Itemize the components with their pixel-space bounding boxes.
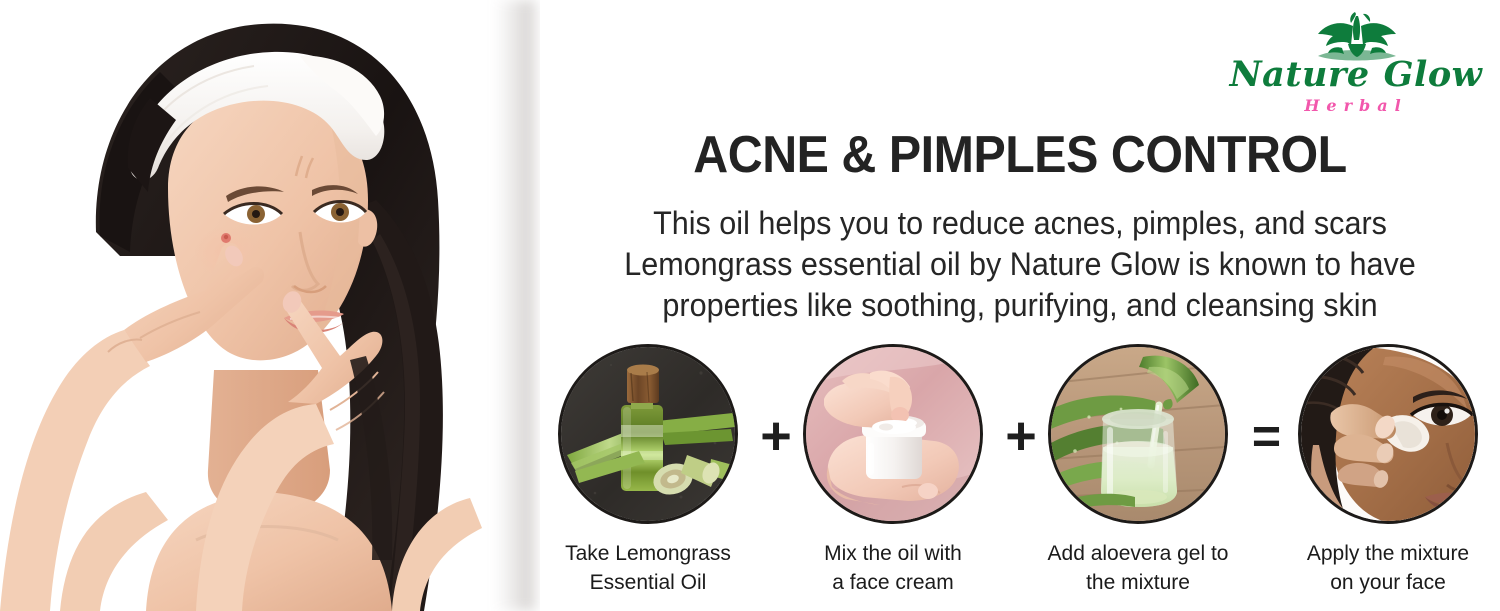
plus-operator-2: +	[998, 416, 1044, 456]
step-2-caption-line-1: Mix the oil with	[795, 539, 991, 568]
hero-model-photo	[0, 0, 540, 611]
step-2-image	[803, 344, 983, 524]
step-4-caption-line-2: on your face	[1290, 568, 1486, 597]
step-3-image	[1048, 344, 1228, 524]
step-1-caption-line-2: Essential Oil	[550, 568, 746, 597]
step-3-caption-line-1: Add aloevera gel to	[1040, 539, 1236, 568]
step-1-caption: Take Lemongrass Essential Oil	[550, 539, 746, 597]
step-4-image	[1298, 344, 1478, 524]
plus-operator-1: +	[753, 416, 799, 456]
step-1-image	[558, 344, 738, 524]
hero-photo-edge-shadow	[494, 0, 540, 611]
logo-word-glow: Glow	[1384, 54, 1483, 95]
page-title: ACNE & PIMPLES CONTROL	[574, 126, 1467, 184]
step-3: Add aloevera gel to the mixture	[1040, 344, 1236, 597]
step-1: Take Lemongrass Essential Oil	[550, 344, 746, 597]
logo-word-nature: Nature	[1230, 54, 1370, 95]
brand-logo[interactable]: NatureGlow Herbal	[1222, 8, 1490, 116]
step-3-caption-line-2: the mixture	[1040, 568, 1236, 597]
step-1-caption-line-1: Take Lemongrass	[550, 539, 746, 568]
description-line-2: Lemongrass essential oil by Nature Glow …	[562, 244, 1479, 285]
description-line-1: This oil helps you to reduce acnes, pimp…	[562, 203, 1479, 244]
step-3-caption: Add aloevera gel to the mixture	[1040, 539, 1236, 597]
usage-steps: Take Lemongrass Essential Oil +	[540, 344, 1500, 594]
step-4-caption: Apply the mixture on your face	[1290, 539, 1486, 597]
hero-model-illustration	[0, 0, 540, 611]
step-2-caption-line-2: a face cream	[795, 568, 991, 597]
equals-operator: =	[1243, 416, 1289, 456]
description-text: This oil helps you to reduce acnes, pimp…	[562, 203, 1479, 326]
promo-banner: NatureGlow Herbal ACNE & PIMPLES CONTROL…	[0, 0, 1500, 611]
logo-wordmark: NatureGlow	[1222, 54, 1490, 95]
step-4: Apply the mixture on your face	[1290, 344, 1486, 597]
logo-tagline: Herbal	[1222, 96, 1490, 115]
step-2: Mix the oil with a face cream	[795, 344, 991, 597]
step-2-caption: Mix the oil with a face cream	[795, 539, 991, 597]
step-4-caption-line-1: Apply the mixture	[1290, 539, 1486, 568]
description-line-3: properties like soothing, purifying, and…	[562, 285, 1479, 326]
